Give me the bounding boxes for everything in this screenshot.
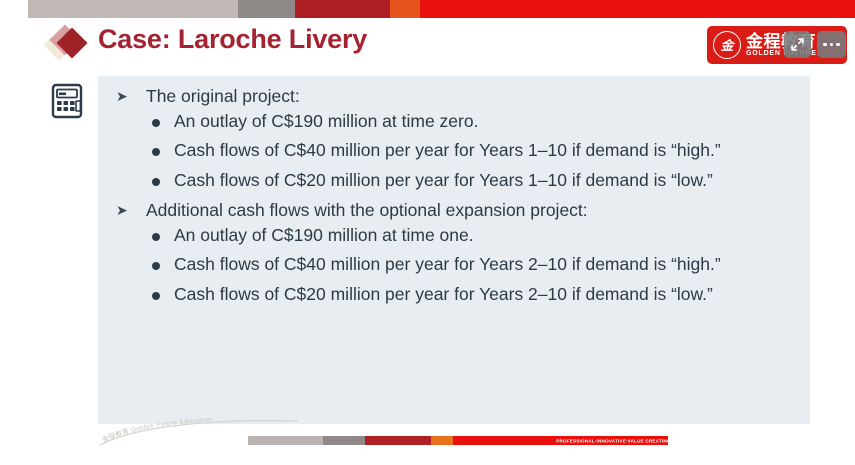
ellipsis-dot bbox=[830, 43, 834, 47]
dot-bullet-icon bbox=[152, 292, 160, 300]
ellipsis-icon[interactable] bbox=[817, 31, 846, 58]
section-heading-text: Additional cash flows with the optional … bbox=[146, 200, 588, 220]
page-title: Case: Laroche Livery bbox=[98, 24, 367, 55]
list-item: Cash flows of C$40 million per year for … bbox=[146, 253, 810, 276]
slide-header: Case: Laroche Livery 金 金程教育 GOLDEN FUTUR… bbox=[0, 18, 855, 70]
section-heading: ➤ The original project: bbox=[104, 84, 810, 108]
list-item-text: An outlay of C$190 million at time one. bbox=[174, 225, 474, 245]
footer-bar-segment-light-gray bbox=[248, 436, 323, 445]
top-bar-segment-mid-gray bbox=[238, 0, 295, 18]
ellipsis-dot bbox=[836, 43, 840, 47]
footer-tagline: PROFESSIONAL·INNOVATIVE·VALUE CREATING bbox=[556, 438, 670, 443]
footer-bar-segment-mid-gray bbox=[323, 436, 365, 445]
top-decor-bar bbox=[0, 0, 855, 18]
arrow-bullet-icon: ➤ bbox=[116, 87, 128, 106]
footer-bar-segment-orange bbox=[431, 436, 453, 445]
dot-bullet-icon bbox=[152, 233, 160, 241]
brand-seal-icon: 金 bbox=[713, 31, 741, 59]
list-item: An outlay of C$190 million at time zero. bbox=[146, 110, 810, 133]
list-item: Cash flows of C$20 million per year for … bbox=[146, 283, 810, 306]
list-item: Cash flows of C$20 million per year for … bbox=[146, 169, 810, 192]
list-item: Cash flows of C$40 million per year for … bbox=[146, 139, 810, 162]
calculator-icon bbox=[50, 83, 84, 119]
dot-bullet-icon bbox=[152, 178, 160, 186]
dot-bullet-icon bbox=[152, 119, 160, 127]
list-item-text: Cash flows of C$20 million per year for … bbox=[174, 284, 713, 304]
list-item-text: Cash flows of C$20 million per year for … bbox=[174, 170, 713, 190]
bullet-list: ➤ The original project: An outlay of C$1… bbox=[104, 84, 810, 312]
top-bar-segment-orange bbox=[390, 0, 420, 18]
dot-bullet-icon bbox=[152, 148, 160, 156]
arrow-bullet-icon: ➤ bbox=[116, 201, 128, 220]
top-bar-segment-light-gray bbox=[28, 0, 238, 18]
top-bar-pad bbox=[0, 0, 28, 18]
brand-seal-glyph: 金 bbox=[720, 39, 733, 52]
list-item-text: Cash flows of C$40 million per year for … bbox=[174, 140, 721, 160]
top-bar-segment-dark-red bbox=[295, 0, 390, 18]
section-heading: ➤ Additional cash flows with the optiona… bbox=[104, 198, 810, 222]
diamond-bullet-icon bbox=[48, 26, 92, 62]
ellipsis-dot bbox=[823, 43, 827, 47]
footer-decor-bar: PROFESSIONAL·INNOVATIVE·VALUE CREATING bbox=[248, 436, 668, 445]
top-bar-segment-red bbox=[420, 0, 855, 18]
section-heading-text: The original project: bbox=[146, 86, 300, 106]
list-item: An outlay of C$190 million at time one. bbox=[146, 224, 810, 247]
expand-arrows-icon[interactable] bbox=[784, 31, 811, 58]
list-item-text: Cash flows of C$40 million per year for … bbox=[174, 254, 721, 274]
footer-bar-segment-red: PROFESSIONAL·INNOVATIVE·VALUE CREATING bbox=[453, 436, 668, 445]
footer-bar-segment-dark-red bbox=[365, 436, 431, 445]
dot-bullet-icon bbox=[152, 262, 160, 270]
list-item-text: An outlay of C$190 million at time zero. bbox=[174, 111, 478, 131]
